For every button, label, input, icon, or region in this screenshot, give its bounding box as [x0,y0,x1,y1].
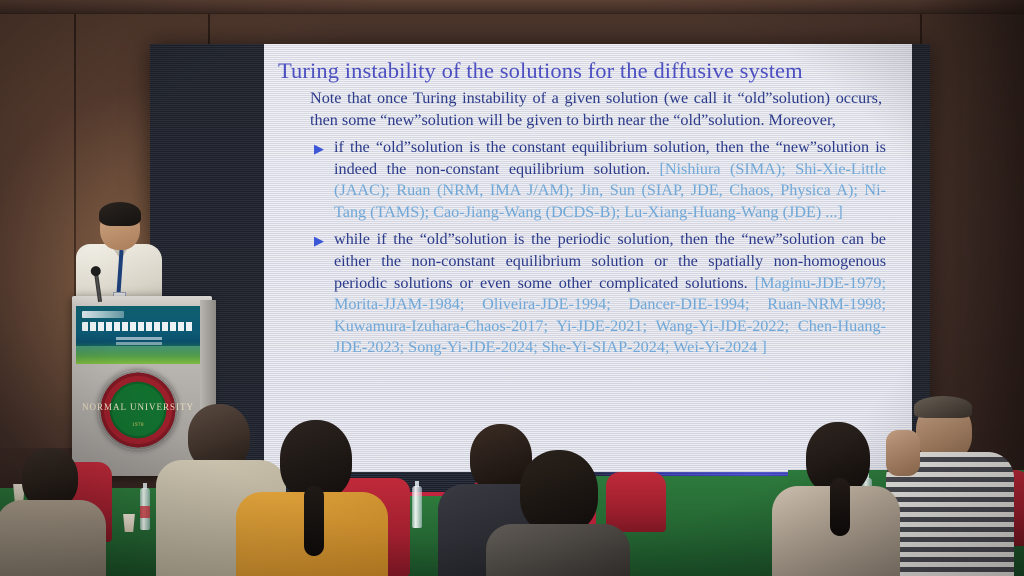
audience-hair [914,396,972,418]
bullet-2-text-group: while if the “old”solution is the period… [334,229,886,358]
emblem-name-text: NORMAL UNIVERSITY [82,402,194,412]
audience-hand [886,430,920,476]
audience-head [520,450,598,534]
audience-head [22,448,78,508]
audience-ponytail [830,478,850,536]
conference-banner [76,306,200,364]
audience-chair [606,472,666,532]
slide-bullet-2: ▶ while if the “old”solution is the peri… [314,229,886,358]
banner-logo-icon [82,311,124,318]
slide-title: Turing instability of the solutions for … [278,58,900,83]
speaker-hair [99,202,141,226]
slide-intro-paragraph: Note that once Turing instability of a g… [310,88,882,131]
water-bottle [140,488,150,530]
audience-torso [486,524,630,576]
banner-skyline-graphic [76,346,200,364]
university-emblem-icon: NORMAL UNIVERSITY 1978 [98,370,178,450]
lecture-hall-scene: Turing instability of the solutions for … [0,0,1024,576]
banner-subtitle-text [116,337,162,340]
emblem-year-text: 1978 [132,423,144,428]
presentation-slide: Turing instability of the solutions for … [264,44,912,472]
audience-ponytail [304,486,324,556]
ceiling-beam [0,0,1024,14]
bullet-1-text-group: if the “old”solution is the constant equ… [334,137,886,223]
banner-title-text [82,322,194,331]
water-bottle [412,486,422,528]
triangle-bullet-icon: ▶ [314,229,334,358]
audience-torso [0,500,106,576]
triangle-bullet-icon: ▶ [314,137,334,223]
slide-bullet-1: ▶ if the “old”solution is the constant e… [314,137,886,223]
